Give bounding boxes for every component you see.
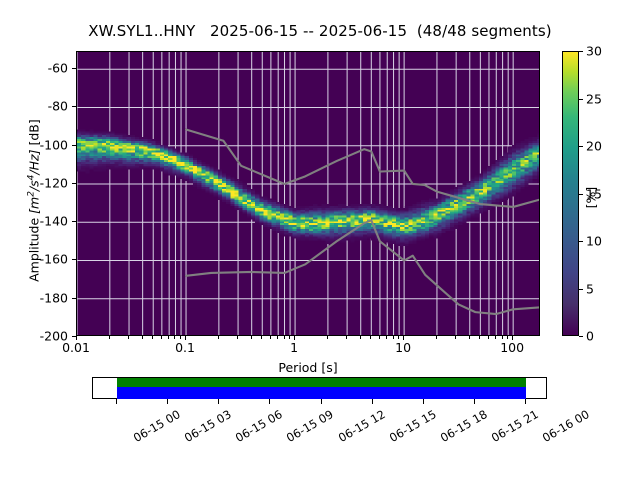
- y-axis-db: [dB]: [27, 119, 42, 149]
- x-tick-label: 10: [395, 340, 411, 355]
- colorbar-tick-label: 0: [586, 329, 594, 344]
- colorbar-tick-label: 30: [586, 44, 602, 59]
- timeline-tick: [167, 399, 168, 404]
- coverage-segment-green: [117, 378, 526, 387]
- x-tick: [360, 336, 361, 339]
- timeline-tick: [269, 399, 270, 404]
- timeline-tick: [372, 399, 373, 404]
- colorbar-tick-label: 5: [586, 281, 594, 296]
- x-tick: [393, 336, 394, 339]
- x-tick: [261, 336, 262, 339]
- y-tick: [72, 298, 76, 299]
- x-tick: [370, 336, 371, 339]
- x-tick: [270, 336, 271, 339]
- y-tick: [72, 145, 76, 146]
- x-tick: [128, 336, 129, 339]
- x-tick: [507, 336, 508, 339]
- timeline-tick-label: 06-15 03: [182, 407, 234, 445]
- x-tick: [502, 336, 503, 339]
- x-tick: [455, 336, 456, 339]
- x-tick: [168, 336, 169, 339]
- x-tick: [379, 336, 380, 339]
- colorbar-tick: [579, 241, 583, 242]
- x-tick: [488, 336, 489, 339]
- y-tick: [72, 183, 76, 184]
- ppsd-figure: XW.SYL1..HNY 2025-06-15 -- 2025-06-15 (4…: [0, 0, 640, 480]
- colorbar-tick: [579, 336, 583, 337]
- colorbar-tick-label: 10: [586, 234, 602, 249]
- noise-model-curves: [77, 52, 540, 336]
- x-tick: [161, 336, 162, 339]
- timeline-tick-label: 06-15 18: [438, 407, 490, 445]
- x-tick: [284, 336, 285, 339]
- timeline-tick-label: 06-15 15: [387, 407, 439, 445]
- ppsd-plot-area: [76, 51, 540, 336]
- x-tick: [479, 336, 480, 339]
- y-tick: [72, 259, 76, 260]
- x-tick: [346, 336, 347, 339]
- x-tick: [218, 336, 219, 339]
- x-tick: [327, 336, 328, 339]
- x-tick: [237, 336, 238, 339]
- colorbar-tick: [579, 289, 583, 290]
- x-tick: [277, 336, 278, 339]
- timeline-tick-label: 06-15 06: [233, 407, 285, 445]
- page-title: XW.SYL1..HNY 2025-06-15 -- 2025-06-15 (4…: [0, 22, 640, 40]
- colorbar-tick-label: 25: [586, 91, 602, 106]
- timeline-tick: [423, 399, 424, 404]
- x-tick-label: 0.1: [175, 340, 195, 355]
- x-tick: [152, 336, 153, 339]
- colorbar-title: [%]: [584, 163, 599, 233]
- colorbar-tick: [579, 99, 583, 100]
- timeline-tick-label: 06-15 21: [489, 407, 541, 445]
- colorbar-tick: [579, 51, 583, 52]
- y-tick-label: -60: [0, 61, 68, 76]
- x-tick: [436, 336, 437, 339]
- timeline-tick-label: 06-15 09: [284, 407, 336, 445]
- timeline-tick-label: 06-15 00: [131, 407, 183, 445]
- y-axis-title-text: Amplitude: [27, 214, 42, 282]
- x-tick: [398, 336, 399, 339]
- x-tick: [142, 336, 143, 339]
- colorbar-tick: [579, 146, 583, 147]
- y-axis-units: [m2/s4/Hz]: [27, 150, 42, 214]
- colorbar: [562, 51, 579, 336]
- x-tick: [386, 336, 387, 339]
- x-tick: [174, 336, 175, 339]
- y-tick: [72, 68, 76, 69]
- colorbar-tick: [579, 194, 583, 195]
- y-tick: [72, 221, 76, 222]
- x-tick: [180, 336, 181, 339]
- y-tick: [72, 336, 76, 337]
- x-axis-title: Period [s]: [76, 360, 540, 375]
- x-tick-label: 100: [500, 340, 524, 355]
- x-tick: [469, 336, 470, 339]
- x-tick: [289, 336, 290, 339]
- y-tick: [72, 106, 76, 107]
- x-tick-label: 1: [290, 340, 298, 355]
- timeline-tick: [218, 399, 219, 404]
- timeline-tick-label: 06-15 12: [335, 407, 387, 445]
- data-coverage-bar: [92, 377, 547, 399]
- timeline-tick: [321, 399, 322, 404]
- timeline-tick-label: 06-16 00: [540, 407, 592, 445]
- y-axis-title: Amplitude [m2/s4/Hz] [dB]: [26, 81, 41, 321]
- x-tick: [251, 336, 252, 339]
- x-tick: [109, 336, 110, 339]
- timeline-tick: [474, 399, 475, 404]
- timeline-tick: [116, 399, 117, 404]
- colorbar-tick-label: 20: [586, 139, 602, 154]
- x-tick: [495, 336, 496, 339]
- y-tick-label: -200: [0, 329, 68, 344]
- timeline-tick: [525, 399, 526, 404]
- coverage-segment-blue: [117, 387, 526, 399]
